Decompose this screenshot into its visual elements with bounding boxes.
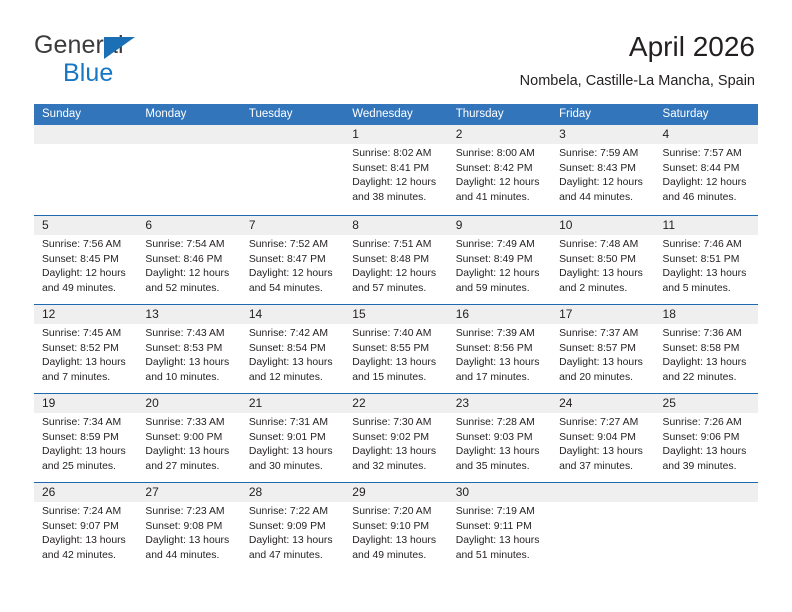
day-cell[interactable]: 28 Sunrise: 7:22 AM Sunset: 9:09 PM Dayl…: [241, 483, 344, 571]
weekday-saturday: Saturday: [655, 104, 758, 125]
day-cell[interactable]: 14 Sunrise: 7:42 AM Sunset: 8:54 PM Dayl…: [241, 305, 344, 393]
sunset-text: Sunset: 9:03 PM: [456, 431, 543, 446]
sunset-text: Sunset: 9:02 PM: [352, 431, 439, 446]
day-number: 16: [448, 305, 551, 324]
sunrise-text: Sunrise: 7:36 AM: [663, 327, 750, 342]
daylight-text-line1: Daylight: 13 hours: [145, 534, 232, 549]
sunset-text: Sunset: 8:50 PM: [559, 253, 646, 268]
day-number: 15: [344, 305, 447, 324]
day-cell[interactable]: 17 Sunrise: 7:37 AM Sunset: 8:57 PM Dayl…: [551, 305, 654, 393]
sunset-text: Sunset: 8:41 PM: [352, 162, 439, 177]
day-cell[interactable]: 1 Sunrise: 8:02 AM Sunset: 8:41 PM Dayli…: [344, 125, 447, 215]
day-number: 6: [137, 216, 240, 235]
day-number: 24: [551, 394, 654, 413]
daylight-text-line1: Daylight: 12 hours: [663, 176, 750, 191]
day-cell[interactable]: 29 Sunrise: 7:20 AM Sunset: 9:10 PM Dayl…: [344, 483, 447, 571]
sunrise-text: Sunrise: 7:23 AM: [145, 505, 232, 520]
sunset-text: Sunset: 8:57 PM: [559, 342, 646, 357]
sunset-text: Sunset: 9:09 PM: [249, 520, 336, 535]
day-cell[interactable]: 11 Sunrise: 7:46 AM Sunset: 8:51 PM Dayl…: [655, 216, 758, 304]
generalblue-logo[interactable]: General Blue: [34, 33, 264, 85]
sunrise-text: Sunrise: 7:24 AM: [42, 505, 129, 520]
daylight-text-line2: and 35 minutes.: [456, 460, 543, 475]
daylight-text-line1: Daylight: 12 hours: [352, 176, 439, 191]
weekday-thursday: Thursday: [448, 104, 551, 125]
logo-text-blue: Blue: [63, 61, 264, 86]
daylight-text-line2: and 30 minutes.: [249, 460, 336, 475]
day-cell[interactable]: 13 Sunrise: 7:43 AM Sunset: 8:53 PM Dayl…: [137, 305, 240, 393]
sunrise-text: Sunrise: 7:40 AM: [352, 327, 439, 342]
sunrise-text: Sunrise: 7:34 AM: [42, 416, 129, 431]
day-cell[interactable]: 10 Sunrise: 7:48 AM Sunset: 8:50 PM Dayl…: [551, 216, 654, 304]
day-number: 3: [551, 125, 654, 144]
day-number: [34, 125, 137, 144]
daylight-text-line2: and 17 minutes.: [456, 371, 543, 386]
day-number: 20: [137, 394, 240, 413]
sunrise-text: Sunrise: 7:30 AM: [352, 416, 439, 431]
title-block: April 2026 Nombela, Castille-La Mancha, …: [520, 30, 755, 91]
daylight-text-line2: and 38 minutes.: [352, 191, 439, 206]
sunrise-text: Sunrise: 7:43 AM: [145, 327, 232, 342]
week-row: 1 Sunrise: 8:02 AM Sunset: 8:41 PM Dayli…: [34, 125, 758, 215]
day-cell[interactable]: 6 Sunrise: 7:54 AM Sunset: 8:46 PM Dayli…: [137, 216, 240, 304]
daylight-text-line1: Daylight: 13 hours: [42, 445, 129, 460]
calendar-grid: Sunday Monday Tuesday Wednesday Thursday…: [34, 104, 758, 571]
sunrise-text: Sunrise: 7:39 AM: [456, 327, 543, 342]
day-number: [241, 125, 344, 144]
daylight-text-line2: and 7 minutes.: [42, 371, 129, 386]
day-number: 25: [655, 394, 758, 413]
day-cell[interactable]: 25 Sunrise: 7:26 AM Sunset: 9:06 PM Dayl…: [655, 394, 758, 482]
daylight-text-line2: and 32 minutes.: [352, 460, 439, 475]
daylight-text-line2: and 49 minutes.: [42, 282, 129, 297]
day-number: 1: [344, 125, 447, 144]
daylight-text-line2: and 20 minutes.: [559, 371, 646, 386]
day-number: 10: [551, 216, 654, 235]
day-details: Sunrise: 7:19 AM Sunset: 9:11 PM Dayligh…: [448, 502, 551, 563]
daylight-text-line2: and 12 minutes.: [249, 371, 336, 386]
daylight-text-line1: Daylight: 12 hours: [456, 267, 543, 282]
day-details: Sunrise: 7:22 AM Sunset: 9:09 PM Dayligh…: [241, 502, 344, 563]
daylight-text-line2: and 10 minutes.: [145, 371, 232, 386]
sunrise-text: Sunrise: 7:22 AM: [249, 505, 336, 520]
sunset-text: Sunset: 9:11 PM: [456, 520, 543, 535]
sunset-text: Sunset: 8:45 PM: [42, 253, 129, 268]
day-cell[interactable]: 30 Sunrise: 7:19 AM Sunset: 9:11 PM Dayl…: [448, 483, 551, 571]
daylight-text-line1: Daylight: 13 hours: [352, 445, 439, 460]
day-number: 8: [344, 216, 447, 235]
daylight-text-line1: Daylight: 13 hours: [249, 356, 336, 371]
daylight-text-line2: and 15 minutes.: [352, 371, 439, 386]
daylight-text-line1: Daylight: 13 hours: [249, 534, 336, 549]
day-cell[interactable]: 27 Sunrise: 7:23 AM Sunset: 9:08 PM Dayl…: [137, 483, 240, 571]
day-cell: [551, 483, 654, 571]
daylight-text-line2: and 59 minutes.: [456, 282, 543, 297]
day-details: Sunrise: 7:34 AM Sunset: 8:59 PM Dayligh…: [34, 413, 137, 474]
sunrise-text: Sunrise: 7:57 AM: [663, 147, 750, 162]
sunset-text: Sunset: 8:56 PM: [456, 342, 543, 357]
weekday-tuesday: Tuesday: [241, 104, 344, 125]
day-cell[interactable]: 20 Sunrise: 7:33 AM Sunset: 9:00 PM Dayl…: [137, 394, 240, 482]
week-row: 5 Sunrise: 7:56 AM Sunset: 8:45 PM Dayli…: [34, 215, 758, 304]
sunset-text: Sunset: 8:55 PM: [352, 342, 439, 357]
day-number: 27: [137, 483, 240, 502]
day-cell[interactable]: 18 Sunrise: 7:36 AM Sunset: 8:58 PM Dayl…: [655, 305, 758, 393]
day-number: 12: [34, 305, 137, 324]
sunset-text: Sunset: 9:07 PM: [42, 520, 129, 535]
day-details: Sunrise: 7:28 AM Sunset: 9:03 PM Dayligh…: [448, 413, 551, 474]
day-details: Sunrise: 7:24 AM Sunset: 9:07 PM Dayligh…: [34, 502, 137, 563]
sunrise-text: Sunrise: 7:46 AM: [663, 238, 750, 253]
daylight-text-line1: Daylight: 13 hours: [249, 445, 336, 460]
day-cell[interactable]: 26 Sunrise: 7:24 AM Sunset: 9:07 PM Dayl…: [34, 483, 137, 571]
sunset-text: Sunset: 8:52 PM: [42, 342, 129, 357]
day-details: Sunrise: 7:27 AM Sunset: 9:04 PM Dayligh…: [551, 413, 654, 474]
daylight-text-line1: Daylight: 13 hours: [145, 445, 232, 460]
day-details: Sunrise: 7:59 AM Sunset: 8:43 PM Dayligh…: [551, 144, 654, 205]
sunset-text: Sunset: 9:00 PM: [145, 431, 232, 446]
weekday-friday: Friday: [551, 104, 654, 125]
day-details: Sunrise: 7:45 AM Sunset: 8:52 PM Dayligh…: [34, 324, 137, 385]
week-row: 19 Sunrise: 7:34 AM Sunset: 8:59 PM Dayl…: [34, 393, 758, 482]
sunset-text: Sunset: 9:08 PM: [145, 520, 232, 535]
day-number: 21: [241, 394, 344, 413]
day-cell[interactable]: 8 Sunrise: 7:51 AM Sunset: 8:48 PM Dayli…: [344, 216, 447, 304]
sunset-text: Sunset: 9:01 PM: [249, 431, 336, 446]
day-details: [34, 144, 137, 147]
page-title: April 2026: [520, 30, 755, 64]
day-number: 26: [34, 483, 137, 502]
calendar-page: General Blue April 2026 Nombela, Castill…: [0, 0, 792, 612]
daylight-text-line2: and 49 minutes.: [352, 549, 439, 564]
day-details: Sunrise: 7:40 AM Sunset: 8:55 PM Dayligh…: [344, 324, 447, 385]
sunrise-text: Sunrise: 7:59 AM: [559, 147, 646, 162]
day-details: Sunrise: 7:23 AM Sunset: 9:08 PM Dayligh…: [137, 502, 240, 563]
daylight-text-line2: and 44 minutes.: [145, 549, 232, 564]
daylight-text-line2: and 27 minutes.: [145, 460, 232, 475]
day-details: [137, 144, 240, 147]
daylight-text-line1: Daylight: 13 hours: [456, 356, 543, 371]
sunset-text: Sunset: 8:43 PM: [559, 162, 646, 177]
daylight-text-line2: and 46 minutes.: [663, 191, 750, 206]
sunset-text: Sunset: 8:44 PM: [663, 162, 750, 177]
weekday-wednesday: Wednesday: [344, 104, 447, 125]
daylight-text-line2: and 54 minutes.: [249, 282, 336, 297]
day-cell[interactable]: 15 Sunrise: 7:40 AM Sunset: 8:55 PM Dayl…: [344, 305, 447, 393]
daylight-text-line1: Daylight: 13 hours: [663, 356, 750, 371]
logo-text-general: General: [34, 33, 264, 60]
page-subtitle: Nombela, Castille-La Mancha, Spain: [520, 71, 755, 91]
sunrise-text: Sunrise: 7:56 AM: [42, 238, 129, 253]
sunset-text: Sunset: 8:58 PM: [663, 342, 750, 357]
day-number: 30: [448, 483, 551, 502]
daylight-text-line2: and 57 minutes.: [352, 282, 439, 297]
weekday-sunday: Sunday: [34, 104, 137, 125]
sunrise-text: Sunrise: 7:49 AM: [456, 238, 543, 253]
sunrise-text: Sunrise: 7:37 AM: [559, 327, 646, 342]
day-cell: [655, 483, 758, 571]
daylight-text-line2: and 41 minutes.: [456, 191, 543, 206]
sunrise-text: Sunrise: 7:26 AM: [663, 416, 750, 431]
day-details: Sunrise: 7:56 AM Sunset: 8:45 PM Dayligh…: [34, 235, 137, 296]
sunrise-text: Sunrise: 7:28 AM: [456, 416, 543, 431]
day-cell[interactable]: 9 Sunrise: 7:49 AM Sunset: 8:49 PM Dayli…: [448, 216, 551, 304]
day-details: [655, 502, 758, 505]
day-cell[interactable]: 24 Sunrise: 7:27 AM Sunset: 9:04 PM Dayl…: [551, 394, 654, 482]
sunset-text: Sunset: 8:42 PM: [456, 162, 543, 177]
day-details: [241, 144, 344, 147]
day-number: 19: [34, 394, 137, 413]
sunrise-text: Sunrise: 8:00 AM: [456, 147, 543, 162]
sunset-text: Sunset: 9:10 PM: [352, 520, 439, 535]
day-details: Sunrise: 7:36 AM Sunset: 8:58 PM Dayligh…: [655, 324, 758, 385]
day-number: 13: [137, 305, 240, 324]
day-details: Sunrise: 8:02 AM Sunset: 8:41 PM Dayligh…: [344, 144, 447, 205]
week-row: 12 Sunrise: 7:45 AM Sunset: 8:52 PM Dayl…: [34, 304, 758, 393]
daylight-text-line2: and 25 minutes.: [42, 460, 129, 475]
sunrise-text: Sunrise: 7:33 AM: [145, 416, 232, 431]
daylight-text-line1: Daylight: 13 hours: [456, 534, 543, 549]
day-details: Sunrise: 7:48 AM Sunset: 8:50 PM Dayligh…: [551, 235, 654, 296]
daylight-text-line1: Daylight: 13 hours: [559, 356, 646, 371]
day-number: 23: [448, 394, 551, 413]
sunrise-text: Sunrise: 7:48 AM: [559, 238, 646, 253]
sunrise-text: Sunrise: 7:54 AM: [145, 238, 232, 253]
sunrise-text: Sunrise: 7:20 AM: [352, 505, 439, 520]
daylight-text-line2: and 39 minutes.: [663, 460, 750, 475]
daylight-text-line2: and 5 minutes.: [663, 282, 750, 297]
logo-triangle-icon: [104, 37, 135, 59]
day-number: 17: [551, 305, 654, 324]
sunrise-text: Sunrise: 8:02 AM: [352, 147, 439, 162]
daylight-text-line2: and 47 minutes.: [249, 549, 336, 564]
day-cell: [34, 125, 137, 215]
sunrise-text: Sunrise: 7:45 AM: [42, 327, 129, 342]
day-details: Sunrise: 7:43 AM Sunset: 8:53 PM Dayligh…: [137, 324, 240, 385]
day-details: Sunrise: 7:30 AM Sunset: 9:02 PM Dayligh…: [344, 413, 447, 474]
day-number: 14: [241, 305, 344, 324]
daylight-text-line1: Daylight: 12 hours: [456, 176, 543, 191]
day-number: 29: [344, 483, 447, 502]
daylight-text-line2: and 37 minutes.: [559, 460, 646, 475]
daylight-text-line1: Daylight: 13 hours: [352, 356, 439, 371]
sunrise-text: Sunrise: 7:19 AM: [456, 505, 543, 520]
daylight-text-line1: Daylight: 13 hours: [352, 534, 439, 549]
daylight-text-line1: Daylight: 12 hours: [145, 267, 232, 282]
day-cell[interactable]: 2 Sunrise: 8:00 AM Sunset: 8:42 PM Dayli…: [448, 125, 551, 215]
day-details: [551, 502, 654, 505]
day-number: 4: [655, 125, 758, 144]
day-number: 7: [241, 216, 344, 235]
day-cell[interactable]: 5 Sunrise: 7:56 AM Sunset: 8:45 PM Dayli…: [34, 216, 137, 304]
sunset-text: Sunset: 8:46 PM: [145, 253, 232, 268]
daylight-text-line2: and 51 minutes.: [456, 549, 543, 564]
daylight-text-line1: Daylight: 13 hours: [42, 534, 129, 549]
weekday-monday: Monday: [137, 104, 240, 125]
day-details: Sunrise: 7:46 AM Sunset: 8:51 PM Dayligh…: [655, 235, 758, 296]
day-cell: [137, 125, 240, 215]
day-details: Sunrise: 7:52 AM Sunset: 8:47 PM Dayligh…: [241, 235, 344, 296]
day-details: Sunrise: 7:26 AM Sunset: 9:06 PM Dayligh…: [655, 413, 758, 474]
daylight-text-line1: Daylight: 12 hours: [352, 267, 439, 282]
day-details: Sunrise: 7:49 AM Sunset: 8:49 PM Dayligh…: [448, 235, 551, 296]
day-cell[interactable]: 12 Sunrise: 7:45 AM Sunset: 8:52 PM Dayl…: [34, 305, 137, 393]
sunset-text: Sunset: 8:48 PM: [352, 253, 439, 268]
sunset-text: Sunset: 9:06 PM: [663, 431, 750, 446]
day-cell: [241, 125, 344, 215]
day-details: Sunrise: 7:51 AM Sunset: 8:48 PM Dayligh…: [344, 235, 447, 296]
daylight-text-line2: and 22 minutes.: [663, 371, 750, 386]
day-details: Sunrise: 7:57 AM Sunset: 8:44 PM Dayligh…: [655, 144, 758, 205]
daylight-text-line1: Daylight: 13 hours: [456, 445, 543, 460]
daylight-text-line1: Daylight: 13 hours: [559, 445, 646, 460]
sunrise-text: Sunrise: 7:52 AM: [249, 238, 336, 253]
day-details: Sunrise: 7:31 AM Sunset: 9:01 PM Dayligh…: [241, 413, 344, 474]
day-number: 2: [448, 125, 551, 144]
sunrise-text: Sunrise: 7:31 AM: [249, 416, 336, 431]
sunrise-text: Sunrise: 7:51 AM: [352, 238, 439, 253]
week-row: 26 Sunrise: 7:24 AM Sunset: 9:07 PM Dayl…: [34, 482, 758, 571]
daylight-text-line1: Daylight: 12 hours: [249, 267, 336, 282]
day-cell[interactable]: 16 Sunrise: 7:39 AM Sunset: 8:56 PM Dayl…: [448, 305, 551, 393]
day-number: 5: [34, 216, 137, 235]
weekday-header-row: Sunday Monday Tuesday Wednesday Thursday…: [34, 104, 758, 125]
daylight-text-line1: Daylight: 12 hours: [42, 267, 129, 282]
day-number: 9: [448, 216, 551, 235]
day-number: [137, 125, 240, 144]
day-number: [551, 483, 654, 502]
daylight-text-line1: Daylight: 13 hours: [42, 356, 129, 371]
day-number: 22: [344, 394, 447, 413]
day-cell[interactable]: 21 Sunrise: 7:31 AM Sunset: 9:01 PM Dayl…: [241, 394, 344, 482]
daylight-text-line1: Daylight: 13 hours: [663, 267, 750, 282]
daylight-text-line1: Daylight: 12 hours: [559, 176, 646, 191]
daylight-text-line2: and 2 minutes.: [559, 282, 646, 297]
sunset-text: Sunset: 8:53 PM: [145, 342, 232, 357]
day-cell[interactable]: 3 Sunrise: 7:59 AM Sunset: 8:43 PM Dayli…: [551, 125, 654, 215]
day-details: Sunrise: 7:20 AM Sunset: 9:10 PM Dayligh…: [344, 502, 447, 563]
sunset-text: Sunset: 9:04 PM: [559, 431, 646, 446]
day-details: Sunrise: 7:39 AM Sunset: 8:56 PM Dayligh…: [448, 324, 551, 385]
daylight-text-line1: Daylight: 13 hours: [559, 267, 646, 282]
day-cell[interactable]: 23 Sunrise: 7:28 AM Sunset: 9:03 PM Dayl…: [448, 394, 551, 482]
daylight-text-line2: and 44 minutes.: [559, 191, 646, 206]
daylight-text-line1: Daylight: 13 hours: [145, 356, 232, 371]
day-number: [655, 483, 758, 502]
sunrise-text: Sunrise: 7:42 AM: [249, 327, 336, 342]
day-details: Sunrise: 7:54 AM Sunset: 8:46 PM Dayligh…: [137, 235, 240, 296]
day-number: 11: [655, 216, 758, 235]
sunset-text: Sunset: 8:49 PM: [456, 253, 543, 268]
day-details: Sunrise: 7:33 AM Sunset: 9:00 PM Dayligh…: [137, 413, 240, 474]
sunset-text: Sunset: 8:59 PM: [42, 431, 129, 446]
daylight-text-line2: and 42 minutes.: [42, 549, 129, 564]
day-cell[interactable]: 4 Sunrise: 7:57 AM Sunset: 8:44 PM Dayli…: [655, 125, 758, 215]
day-details: Sunrise: 7:37 AM Sunset: 8:57 PM Dayligh…: [551, 324, 654, 385]
sunset-text: Sunset: 8:47 PM: [249, 253, 336, 268]
day-details: Sunrise: 7:42 AM Sunset: 8:54 PM Dayligh…: [241, 324, 344, 385]
sunrise-text: Sunrise: 7:27 AM: [559, 416, 646, 431]
daylight-text-line2: and 52 minutes.: [145, 282, 232, 297]
page-header: General Blue April 2026 Nombela, Castill…: [0, 0, 792, 100]
day-cell[interactable]: 7 Sunrise: 7:52 AM Sunset: 8:47 PM Dayli…: [241, 216, 344, 304]
day-number: 28: [241, 483, 344, 502]
day-details: Sunrise: 8:00 AM Sunset: 8:42 PM Dayligh…: [448, 144, 551, 205]
sunset-text: Sunset: 8:54 PM: [249, 342, 336, 357]
day-cell[interactable]: 22 Sunrise: 7:30 AM Sunset: 9:02 PM Dayl…: [344, 394, 447, 482]
sunset-text: Sunset: 8:51 PM: [663, 253, 750, 268]
daylight-text-line1: Daylight: 13 hours: [663, 445, 750, 460]
day-number: 18: [655, 305, 758, 324]
day-cell[interactable]: 19 Sunrise: 7:34 AM Sunset: 8:59 PM Dayl…: [34, 394, 137, 482]
